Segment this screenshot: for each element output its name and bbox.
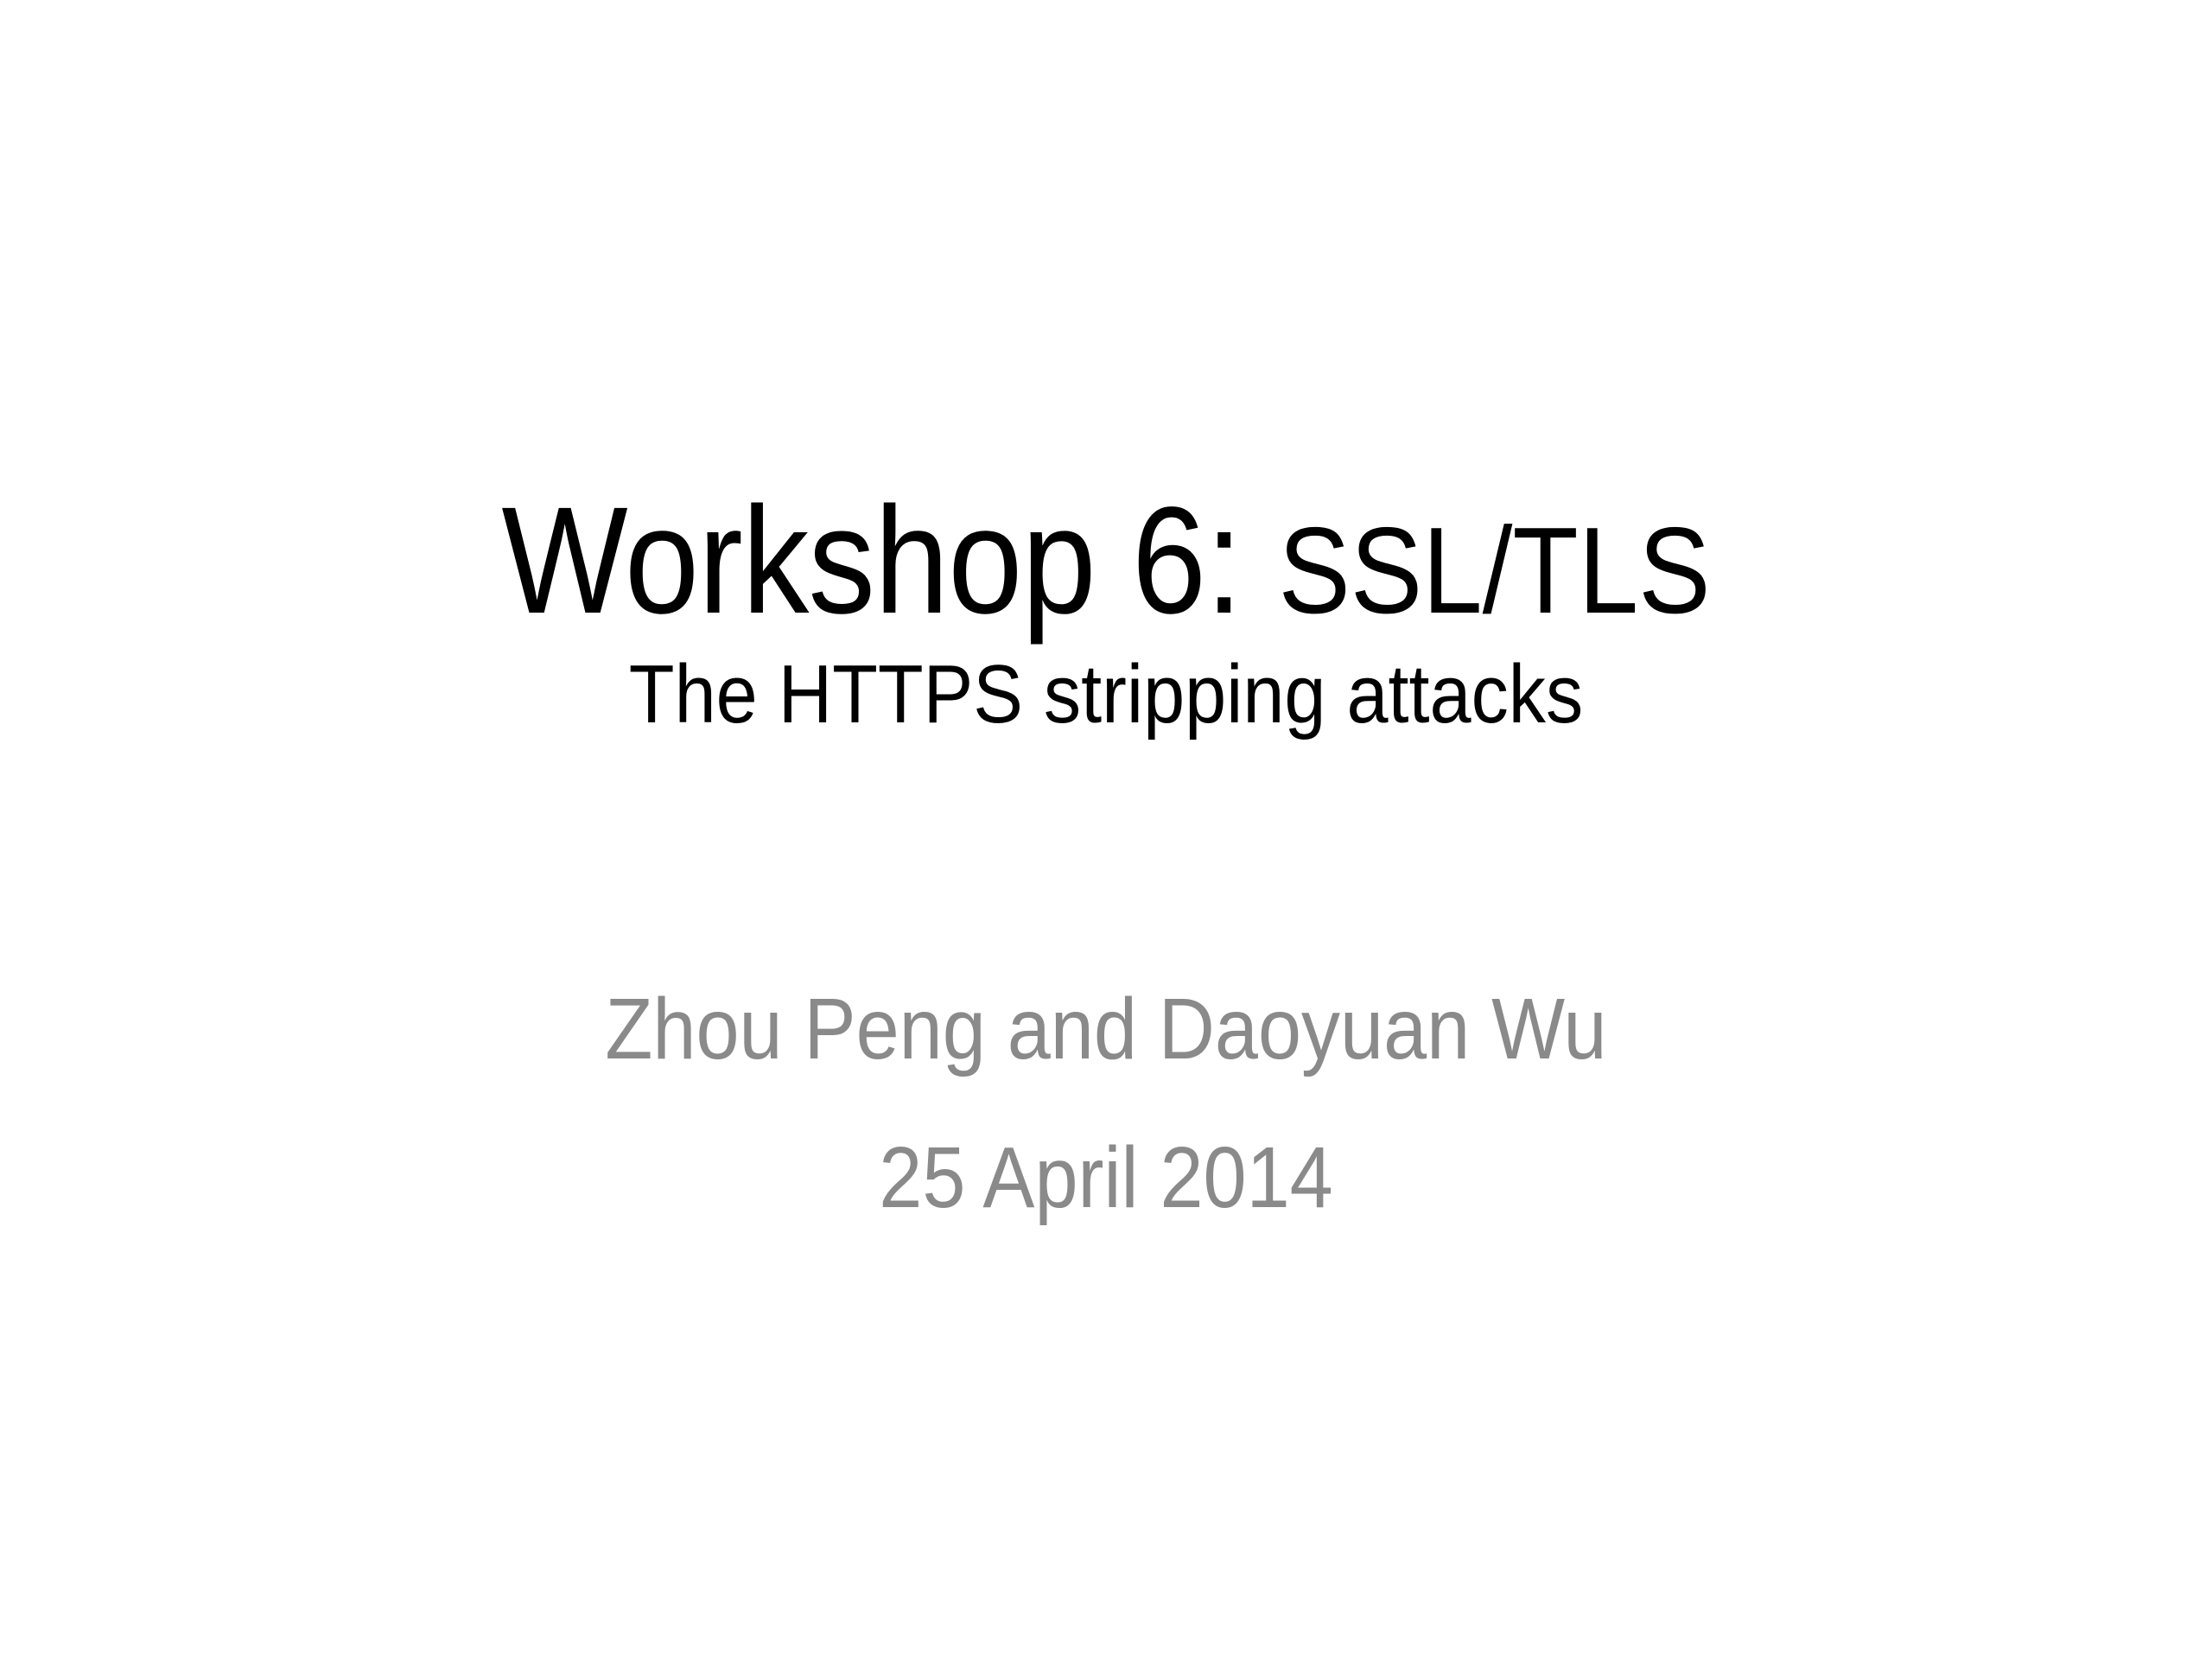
page-title: Workshop 6: SSL/TLS — [376, 484, 1836, 639]
page-subtitle: The HTTPS stripping attacks — [359, 652, 1853, 739]
presenter-names: Zhou Peng and Daoyuan Wu — [359, 955, 1853, 1103]
title-tail-text: SSL/TLS — [1278, 502, 1710, 639]
presentation-date: 25 April 2014 — [359, 1103, 1853, 1252]
presentation-title-slide: Workshop 6: SSL/TLS The HTTPS stripping … — [0, 0, 2212, 1659]
title-lead-text: Workshop 6: — [501, 476, 1278, 645]
subtitle-placeholder: Zhou Peng and Daoyuan Wu 25 April 2014 — [276, 955, 1935, 1252]
title-placeholder: Workshop 6: SSL/TLS The HTTPS stripping … — [276, 484, 1935, 738]
